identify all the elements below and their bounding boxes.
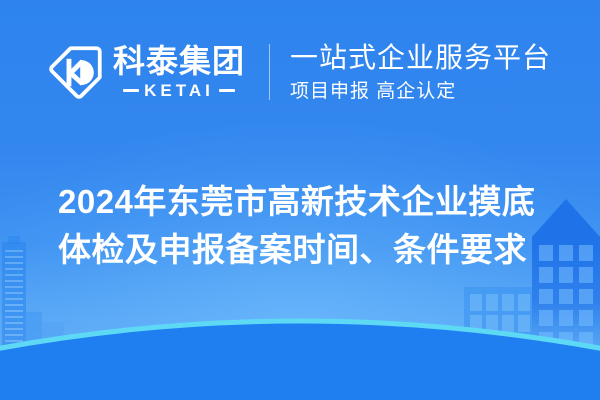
window-cell [559, 245, 573, 261]
window-cell [579, 245, 593, 261]
header-divider [269, 44, 270, 100]
brand-name-en: KETAI [144, 82, 214, 99]
brand-name-en-row: KETAI [123, 82, 235, 99]
brand-name-cn: 科泰集团 [113, 45, 245, 77]
dash-left-icon [123, 89, 139, 92]
bottom-wave-curve [0, 280, 600, 400]
slogan-sub: 项目申报 高企认定 [290, 82, 456, 101]
slogan-main: 一站式企业服务平台 [290, 44, 551, 72]
page-title: 2024年东莞市高新技术企业摸底体检及申报备案时间、条件要求 [58, 178, 558, 274]
dash-right-icon [219, 89, 235, 92]
brand-logo[interactable]: 科泰集团 KETAI 一站式企业服务平台 项目申报 高企认定 [49, 44, 551, 101]
header-slogan: 一站式企业服务平台 项目申报 高企认定 [290, 44, 551, 101]
banner-header: 科泰集团 KETAI 一站式企业服务平台 项目申报 高企认定 [0, 0, 600, 140]
ketai-diamond-kd-monogram-icon [49, 45, 103, 99]
promo-banner: 科泰集团 KETAI 一站式企业服务平台 项目申报 高企认定 2024年东莞市高… [0, 0, 600, 400]
brand-wordmark: 科泰集团 KETAI [113, 45, 245, 99]
